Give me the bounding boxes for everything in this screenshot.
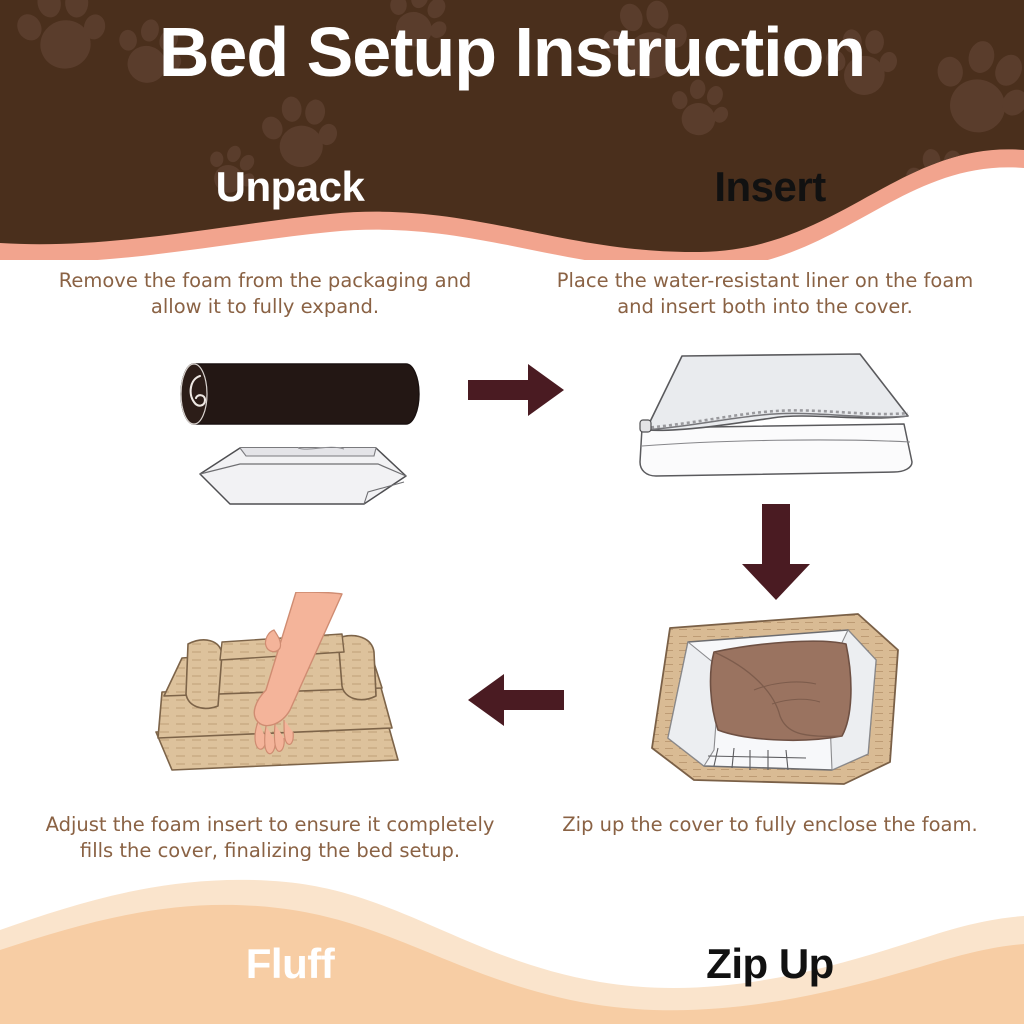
arrow-insert-to-zipup [736, 502, 816, 602]
step-caption-unpack: Remove the foam from the packaging and a… [40, 268, 490, 319]
arrow-right-icon [468, 364, 564, 416]
step-title-zipup: Zip Up [600, 940, 940, 988]
step-caption-zipup: Zip up the cover to fully enclose the fo… [545, 812, 995, 838]
folded-liner-icon [200, 447, 406, 504]
arrow-left-icon [468, 674, 564, 726]
step-caption-insert: Place the water-resistant liner on the f… [540, 268, 990, 319]
open-bed-cover-icon [652, 614, 898, 784]
arrow-down-icon [742, 504, 810, 600]
illustration-zippered-cover [612, 350, 932, 490]
step-caption-fluff: Adjust the foam insert to ensure it comp… [45, 812, 495, 863]
step-title-unpack: Unpack [120, 163, 460, 211]
bed-cover-icon [640, 354, 912, 476]
step-title-fluff: Fluff [120, 940, 460, 988]
illustration-rolled-foam-and-liner [178, 352, 428, 512]
bed-setup-instruction-poster: Bed Setup Instruction Unpack Insert Zip … [0, 0, 1024, 1024]
zipper-pull-icon [640, 420, 651, 432]
step-title-insert: Insert [600, 163, 940, 211]
illustration-hands-fluffing-bed [142, 592, 434, 786]
rolled-foam-icon [181, 364, 419, 424]
page-title: Bed Setup Instruction [0, 16, 1024, 90]
illustration-open-cover-with-foam [622, 598, 922, 798]
arrow-zipup-to-fluff [466, 672, 566, 728]
arrow-unpack-to-insert [466, 362, 566, 418]
